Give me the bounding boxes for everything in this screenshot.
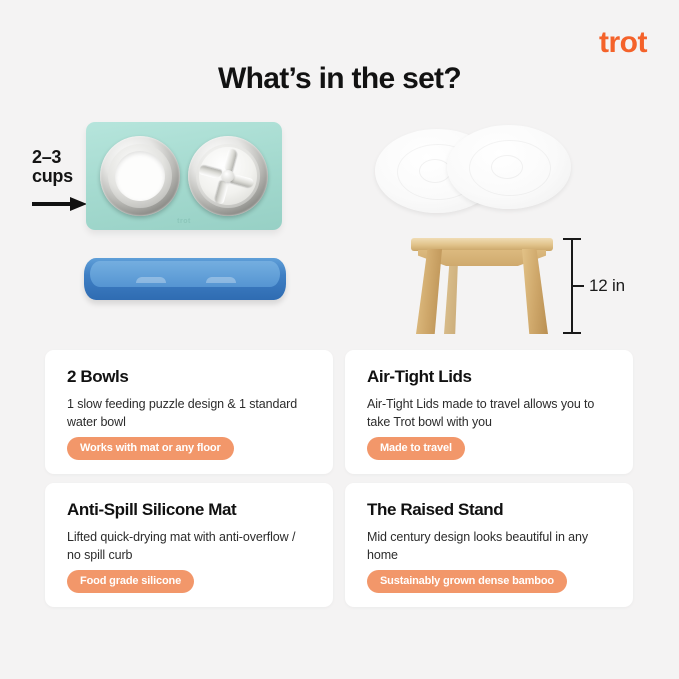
card-badge: Works with mat or any floor [67,437,234,460]
slow-feeder-bowl [188,136,268,216]
card-title: 2 Bowls [67,367,311,387]
feature-card-mat: Anti-Spill Silicone Mat Lifted quick-dry… [45,483,333,607]
card-title: Anti-Spill Silicone Mat [67,500,311,520]
card-title: The Raised Stand [367,500,611,520]
brand-logo: trot [599,28,647,58]
dimension-label: 12 in [589,276,625,296]
hero-product-illustration: 2–3 cups trot [0,110,679,340]
arrow-right-icon [32,196,88,212]
air-tight-lids-image [375,125,580,215]
page-title: What’s in the set? [0,62,679,96]
height-dimension-marker: 12 in [563,238,653,334]
lid-front [447,125,571,209]
card-description: 1 slow feeding puzzle design & 1 standar… [67,396,311,432]
card-description: Mid century design looks beautiful in an… [367,529,611,565]
water-bowl [100,136,180,216]
card-title: Air-Tight Lids [367,367,611,387]
feature-card-bowls: 2 Bowls 1 slow feeding puzzle design & 1… [45,350,333,474]
puzzle-insert-icon [199,147,257,205]
bowl-set-brandmark: trot [177,218,191,225]
feature-card-lids: Air-Tight Lids Air-Tight Lids made to tr… [345,350,633,474]
card-badge: Sustainably grown dense bamboo [367,570,567,593]
card-description: Air-Tight Lids made to travel allows you… [367,396,611,432]
feature-cards-grid: 2 Bowls 1 slow feeding puzzle design & 1… [45,350,635,607]
silicone-mat-image [84,258,286,304]
raised-stand-image [408,238,556,334]
card-description: Lifted quick-drying mat with anti-overfl… [67,529,311,565]
feature-card-stand: The Raised Stand Mid century design look… [345,483,633,607]
bowl-set-image: trot [86,122,282,230]
card-badge: Food grade silicone [67,570,194,593]
card-badge: Made to travel [367,437,465,460]
